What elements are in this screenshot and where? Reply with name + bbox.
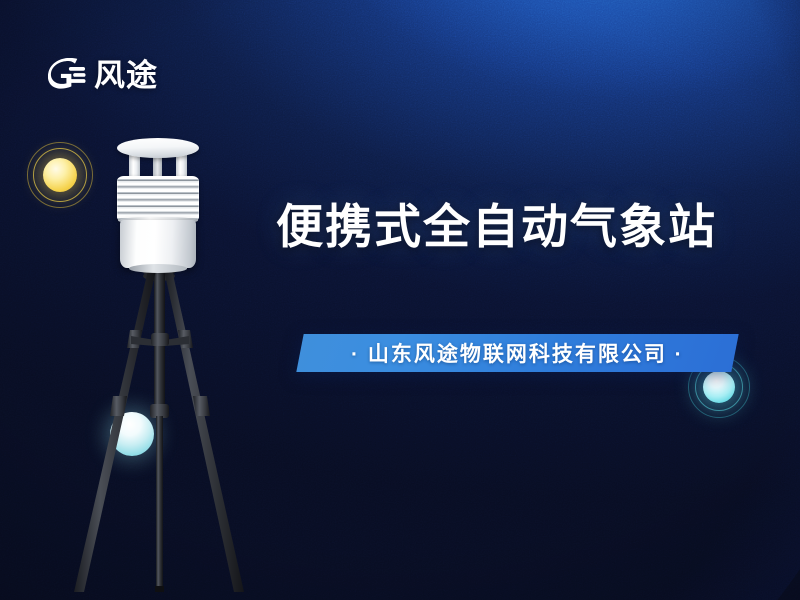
- brand-logo: 风途: [48, 58, 158, 92]
- tripod-leg-right: [164, 270, 244, 592]
- sensor-body: [120, 220, 196, 268]
- fengtu-g-logo-icon: [48, 58, 86, 92]
- product-banner: 风途 便携式全自动气象站 · 山东风途物联网科技有限公司 ·: [0, 0, 800, 600]
- page-title: 便携式全自动气象站: [276, 203, 717, 250]
- tripod-leg-left: [74, 270, 156, 592]
- company-name: · 山东风途物联网科技有限公司 ·: [351, 338, 684, 368]
- tripod-center-column: [150, 272, 169, 592]
- sensor-louver-stack: [117, 176, 199, 222]
- brand-name: 风途: [94, 60, 158, 91]
- sensor-top-disc: [117, 138, 199, 158]
- radiation-shield-sensor: [98, 138, 218, 283]
- company-banner: · 山东风途物联网科技有限公司 ·: [296, 334, 738, 372]
- sensor-base-ring: [129, 264, 187, 273]
